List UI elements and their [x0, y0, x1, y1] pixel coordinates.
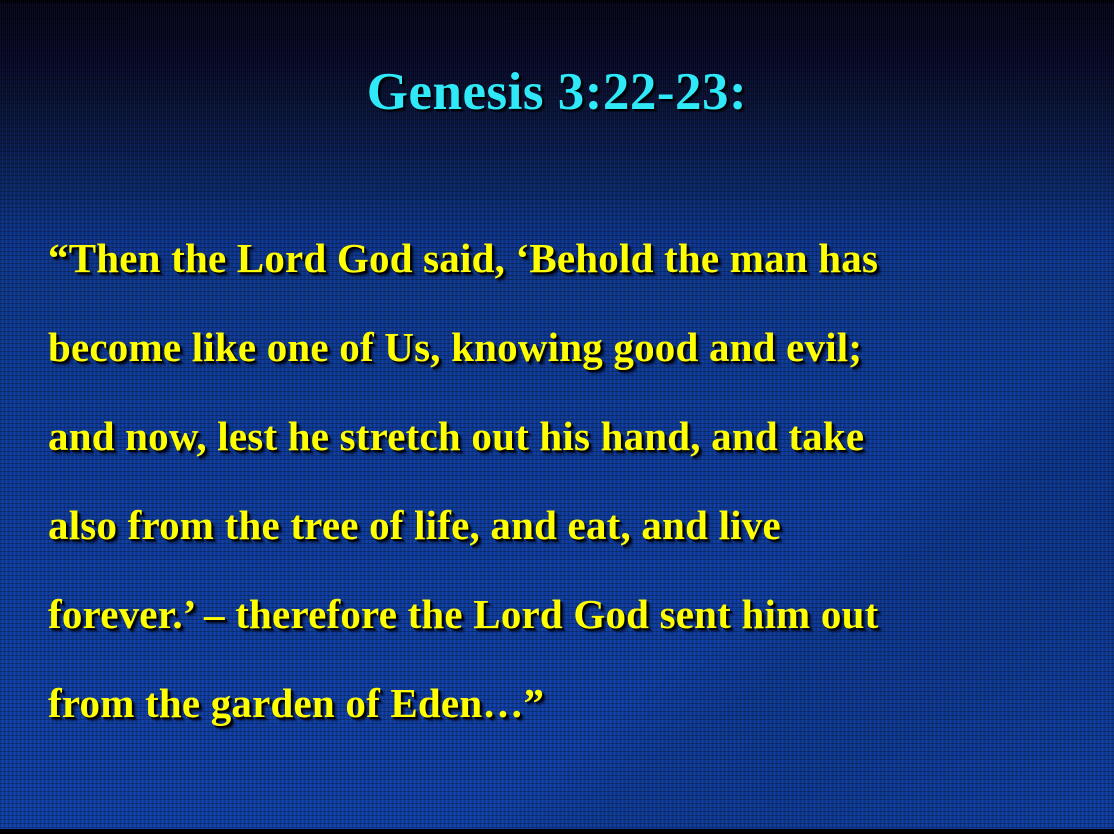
scripture-line: also from the tree of life, and eat, and… — [48, 481, 1078, 570]
scripture-line: become like one of Us, knowing good and … — [48, 303, 1078, 392]
scripture-body: “Then the Lord God said, ‘Behold the man… — [48, 214, 1078, 748]
scripture-line: from the garden of Eden…” — [48, 659, 1078, 748]
scripture-line: forever.’ – therefore the Lord God sent … — [48, 570, 1078, 659]
scripture-line: and now, lest he stretch out his hand, a… — [48, 392, 1078, 481]
slide-content: Genesis 3:22-23: “Then the Lord God said… — [0, 0, 1114, 834]
presentation-slide: Genesis 3:22-23: “Then the Lord God said… — [0, 0, 1114, 834]
slide-title: Genesis 3:22-23: — [0, 63, 1114, 121]
scripture-line: “Then the Lord God said, ‘Behold the man… — [48, 214, 1078, 303]
